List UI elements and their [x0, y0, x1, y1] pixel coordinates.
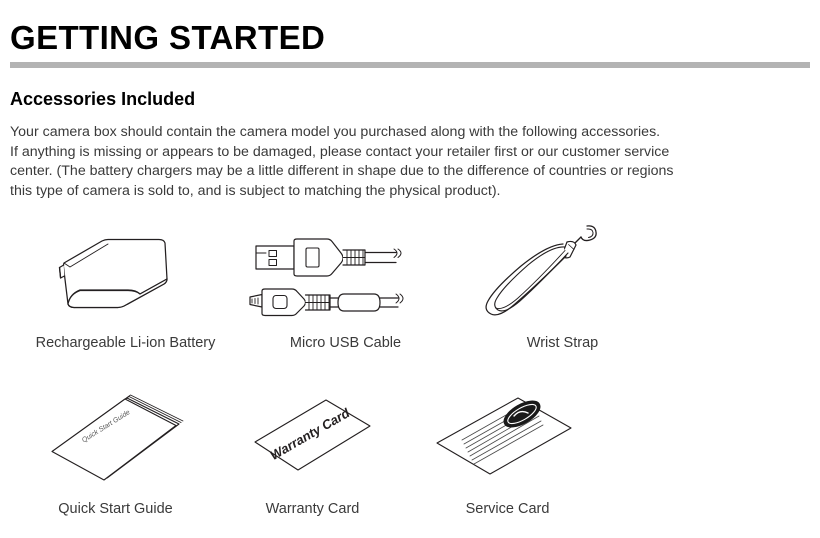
- booklet-icon: Quick Start Guide: [8, 388, 223, 500]
- service-card-icon: [400, 388, 615, 500]
- micro-usb-cable-icon: [238, 222, 453, 334]
- accessories-row-1: Rechargeable Li-ion Battery: [0, 222, 820, 372]
- accessory-item-warranty-card: Warranty Card Warranty Card: [205, 388, 420, 538]
- accessory-caption: Wrist Strap: [455, 334, 670, 352]
- warranty-card-icon: Warranty Card: [205, 388, 420, 500]
- accessory-item-battery: Rechargeable Li-ion Battery: [18, 222, 233, 372]
- section-body-text: Your camera box should contain the camer…: [10, 123, 810, 201]
- accessory-item-usb-cable: Micro USB Cable: [238, 222, 453, 372]
- accessory-caption: Rechargeable Li-ion Battery: [18, 334, 233, 352]
- wrist-strap-icon: [455, 222, 670, 334]
- accessory-caption: Warranty Card: [205, 500, 420, 518]
- accessory-caption: Quick Start Guide: [8, 500, 223, 518]
- accessory-caption: Service Card: [400, 500, 615, 518]
- title-divider: [10, 62, 810, 68]
- document-page: GETTING STARTED Accessories Included You…: [0, 0, 820, 538]
- accessory-caption: Micro USB Cable: [238, 334, 453, 352]
- accessory-item-wrist-strap: Wrist Strap: [455, 222, 670, 372]
- page-title: GETTING STARTED: [10, 18, 325, 58]
- accessory-item-quick-start-guide: Quick Start Guide Quick Start Guide: [8, 388, 223, 538]
- accessories-grid: Rechargeable Li-ion Battery: [0, 222, 820, 538]
- accessories-row-2: Quick Start Guide Quick Start Guide Warr…: [0, 388, 820, 538]
- battery-pack-icon: [18, 222, 233, 334]
- accessory-item-service-card: Service Card: [400, 388, 615, 538]
- section-heading: Accessories Included: [10, 88, 195, 110]
